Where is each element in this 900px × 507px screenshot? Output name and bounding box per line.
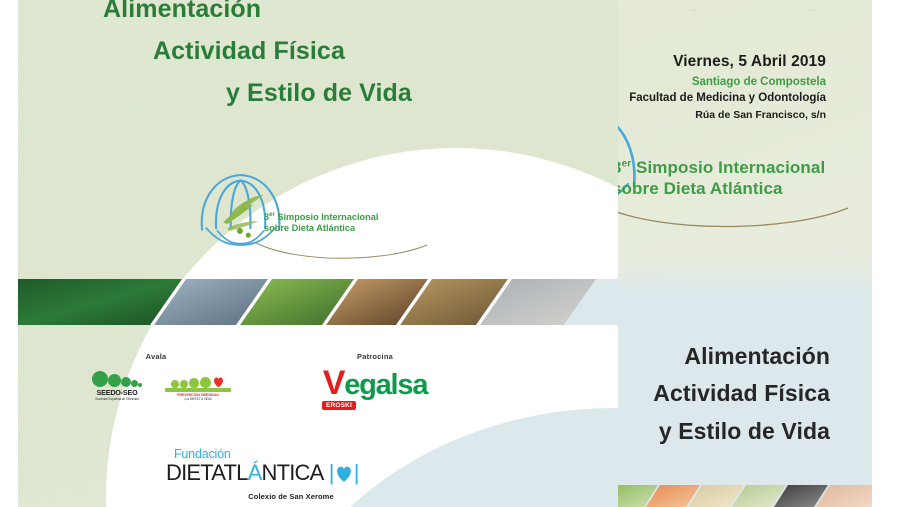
lifestyle-photo-strip [18,277,618,325]
patrocina-label: Patrocina [306,352,444,361]
seedo-seo-logo: SEEDO-SEO Sociedad Española de Obesidad [81,367,153,401]
back-poster-headline: Alimentación Actividad Física y Estilo d… [653,338,830,450]
symposium-logo-small-wordmark: 3er Simposio Internacional sobre Dieta A… [264,212,378,233]
right-margin [872,0,900,507]
front-headline-line-2: Actividad Física [58,30,618,72]
symposium-logo-line1: 3er Simposio Internacional [612,158,825,178]
dietatlantica-wordmark: DIETATLÁNTICA || [166,461,416,484]
symposium-logo-small-line1-text: Simposio Internacional [275,212,379,222]
symposium-logo-large-wordmark: 3er Simposio Internacional sobre Dieta A… [612,158,825,199]
event-date: Viernes, 5 Abril 2019 [629,52,826,73]
eroski-badge: EROSKI [322,401,356,410]
logo-swoosh-icon [600,202,850,232]
heart-icon [334,464,354,483]
apples-heart-icon [165,368,231,388]
dietatlantica-part-a: DIETATL [166,460,248,485]
vegalsa-initial: V [323,364,344,402]
seedo-title: SEEDO-SEO [81,388,153,397]
seedo-subtitle: Sociedad Española de Obesidad [81,397,153,401]
symposium-logo-small: 3er Simposio Internacional sobre Dieta A… [196,168,416,260]
colexio-note: Colexio de San Xerome [166,492,416,501]
avala-label: Avala [76,352,236,361]
logo-swoosh-icon [254,240,429,262]
front-headline-line-1: Alimentación [58,0,618,30]
partner-logo-6: ▫▫▫ [689,4,696,18]
symposium-logo-line1-text: Simposio Internacional [631,158,825,177]
event-city: Santiago de Compostela [629,75,826,91]
patrocina-group: Patrocina Vegalsa EROSKI [306,352,444,418]
front-poster: Alimentación Actividad Física y Estilo d… [18,0,618,507]
back-headline-line-3: y Estilo de Vida [653,413,830,450]
avala-group: Avala SEEDO-SEO Sociedad Española de Obe… [76,352,236,401]
symposium-logo-small-line1: 3er Simposio Internacional [264,212,378,222]
fundacion-dieta-atlantica-logo: Fundación DIETATLÁNTICA || Colexio de Sa… [166,448,416,501]
symposium-logo-small-line2: sobre Dieta Atlántica [264,223,378,233]
front-poster-headline: Alimentación Actividad Física y Estilo d… [18,0,618,114]
back-headline-line-1: Alimentación [653,338,830,375]
prevencion-obesidad-logo: PREVENCIÓN OBESIDAD ¡LA DIETA TU VIDA! [165,368,231,402]
vegalsa-word: egalsa [344,369,427,401]
food-photo-strip [604,485,872,507]
dietatlantica-accent: Á [248,460,262,485]
prevencion-subtitle: ¡LA DIETA TU VIDA! [165,397,231,401]
sponsors-section: Avala SEEDO-SEO Sociedad Española de Obe… [18,352,618,507]
ordinal-suffix: er [622,158,632,169]
partner-logo-7: ▫▫▫▫ [807,4,817,18]
poster-stage: ▫▫▫▫ ▫▫▫ ▫▫▫▫ ▪▪▪ ▪▪ ▫▫▫ ▫▫▫▫ Viernes, 5… [0,0,900,507]
seedo-bubbles-icon [81,367,153,387]
symposium-logo-line2: sobre Dieta Atlántica [612,179,825,199]
dietatlantica-part-b: NTICA [261,460,323,485]
left-margin [0,0,18,507]
vegalsa-wordmark: Vegalsa [323,366,428,400]
heart-icon [212,376,225,388]
front-headline-line-3: y Estilo de Vida [58,72,618,114]
back-headline-line-2: Actividad Física [653,375,830,412]
vegalsa-eroski-logo: Vegalsa EROSKI [306,366,444,418]
